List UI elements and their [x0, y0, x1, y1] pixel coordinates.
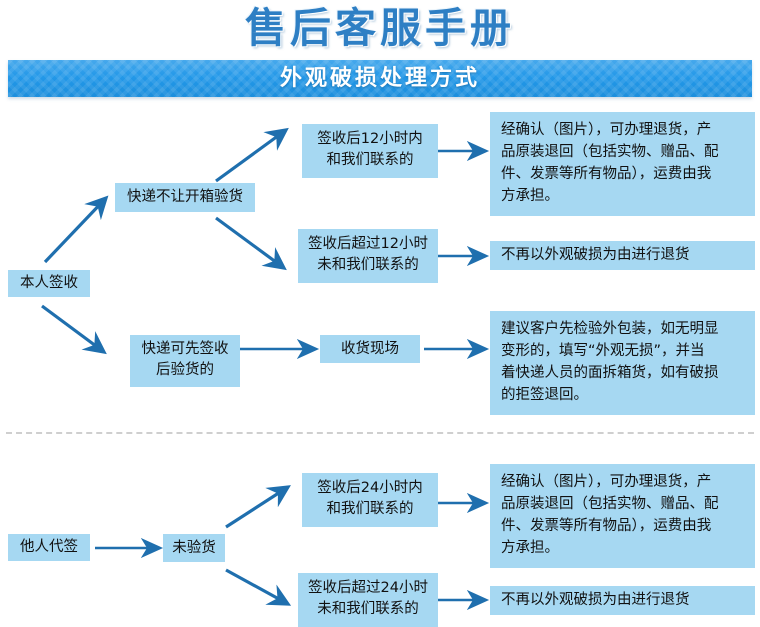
node-label: 本人签收 [20, 273, 78, 294]
node-proxy-signed[interactable]: 他人代签 [8, 534, 90, 561]
result-line1: 建议客户先检验外包装，如无明显 [501, 318, 745, 340]
node-label-line1: 签收后超过12小时 [298, 234, 438, 255]
arrow-nocheck-to-over12 [216, 218, 284, 268]
node-label-line1: 签收后12小时内 [302, 129, 438, 150]
result-line3: 件、发票等所有物品），运费由我 [501, 163, 745, 185]
section-divider [6, 432, 754, 434]
node-label-line1: 快递可先签收 [130, 339, 240, 360]
node-label-line2: 未和我们联系的 [298, 599, 438, 620]
subtitle-banner: 外观破损处理方式 [8, 60, 752, 97]
result-line4: 方承担。 [501, 185, 745, 207]
node-label: 快递不让开箱验货 [127, 187, 243, 208]
node-result-refund-12h[interactable]: 经确认（图片），可办理退货，产 品原装退回（包括实物、赠品、配 件、发票等所有物… [490, 112, 755, 216]
node-label-line1: 签收后24小时内 [302, 478, 438, 499]
arrow-unchecked-to-over24 [226, 570, 288, 604]
node-label-line2: 和我们联系的 [302, 499, 438, 520]
result-text: 不再以外观破损为由进行退货 [501, 245, 755, 266]
node-over-24h[interactable]: 签收后超过24小时 未和我们联系的 [298, 573, 438, 627]
node-courier-allow-check[interactable]: 快递可先签收 后验货的 [130, 335, 240, 387]
arrow-nocheck-to-within12 [216, 130, 286, 181]
node-label-line2: 未和我们联系的 [298, 255, 438, 276]
node-label-line2: 和我们联系的 [302, 150, 438, 171]
node-label: 未验货 [172, 538, 216, 559]
node-result-no-refund-12h[interactable]: 不再以外观破损为由进行退货 [490, 241, 755, 270]
node-within-12h[interactable]: 签收后12小时内 和我们联系的 [302, 124, 438, 178]
result-line2: 品原装退回（包括实物、赠品、配 [501, 493, 745, 515]
result-line2: 品原装退回（包括实物、赠品、配 [501, 141, 745, 163]
page-title: 售后客服手册 [0, 2, 760, 54]
node-over-12h[interactable]: 签收后超过12小时 未和我们联系的 [298, 229, 438, 283]
node-result-refund-24h[interactable]: 经确认（图片），可办理退货，产 品原装退回（包括实物、赠品、配 件、发票等所有物… [490, 464, 755, 568]
result-text: 不再以外观破损为由进行退货 [501, 590, 755, 611]
arrow-unchecked-to-within24 [226, 487, 288, 527]
node-not-inspected[interactable]: 未验货 [163, 534, 225, 562]
node-receiving-site[interactable]: 收货现场 [320, 335, 420, 363]
node-label: 他人代签 [20, 537, 78, 558]
node-result-no-refund-24h[interactable]: 不再以外观破损为由进行退货 [490, 586, 755, 615]
result-line1: 经确认（图片），可办理退货，产 [501, 471, 745, 493]
node-label-line1: 签收后超过24小时 [298, 578, 438, 599]
result-line1: 经确认（图片），可办理退货，产 [501, 119, 745, 141]
arrow-self-to-cancheck [42, 306, 104, 352]
node-result-inspect-advice[interactable]: 建议客户先检验外包装，如无明显 变形的，填写“外观无损”，并当 着快递人员的面拆… [490, 311, 755, 415]
subtitle-text: 外观破损处理方式 [8, 60, 752, 97]
node-within-24h[interactable]: 签收后24小时内 和我们联系的 [302, 473, 438, 527]
result-line2: 变形的，填写“外观无损”，并当 [501, 340, 745, 362]
result-line4: 的拒签退回。 [501, 384, 745, 406]
arrow-self-to-nocheck [45, 198, 106, 262]
node-label: 收货现场 [341, 339, 399, 360]
node-label-line2: 后验货的 [130, 360, 240, 381]
result-line3: 着快递人员的面拆箱货，如有破损 [501, 362, 745, 384]
result-line3: 件、发票等所有物品），运费由我 [501, 515, 745, 537]
node-self-signed[interactable]: 本人签收 [8, 270, 90, 297]
node-courier-no-open-check[interactable]: 快递不让开箱验货 [115, 183, 255, 212]
result-line4: 方承担。 [501, 537, 745, 559]
